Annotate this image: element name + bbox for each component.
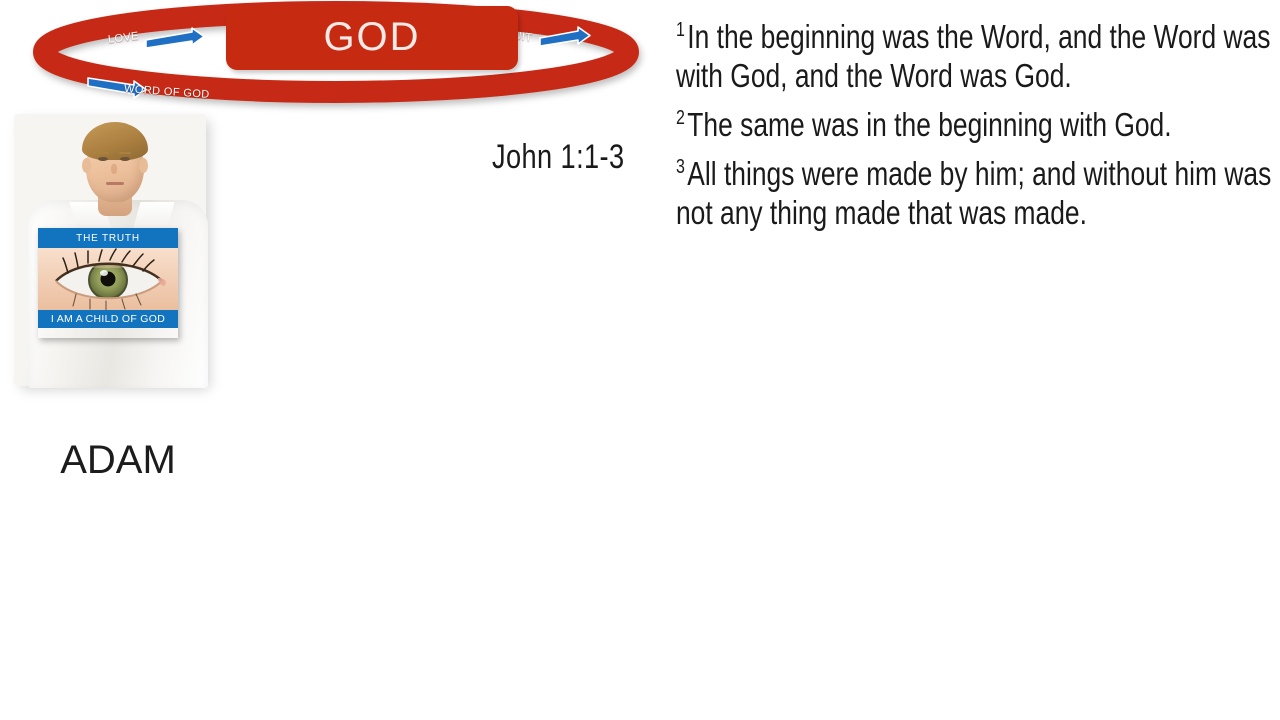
arrow-left-icon [146,28,204,48]
eye-graphic [38,248,178,310]
verse-text-1: In the beginning was the Word, and the W… [676,18,1270,94]
truth-card-footer-label: I AM A CHILD OF GOD [51,313,165,325]
person-hair [82,122,148,160]
verse-number-2: 2 [676,107,685,129]
scripture-body: 1In the beginning was the Word, and the … [676,18,1276,243]
truth-card: THE TRUTH [38,228,178,338]
verse-number-1: 1 [676,19,685,41]
person-photo: THE TRUTH [6,112,220,392]
person-ear-left [82,158,91,173]
god-box-label: GOD [323,17,420,57]
god-ring-diagram: LOVE WORD OF GOD FRUIT GOD [28,0,658,118]
eye-photo [38,248,178,310]
slide-canvas: LOVE WORD OF GOD FRUIT GOD [0,0,1280,720]
person-eye-right [120,157,130,161]
god-box: GOD [226,6,518,70]
scripture-reference: John 1:1-3 [492,138,625,177]
person-eyebrow-left [97,152,109,154]
person-nose [111,164,117,174]
person-eye-left [98,157,108,161]
verse-text-2: The same was in the beginning with God. [687,106,1171,143]
person-mouth [106,182,124,185]
truth-card-header: THE TRUTH [38,228,178,248]
verse-text-3: All things were made by him; and without… [676,155,1271,231]
person-name-label: ADAM [42,440,194,480]
truth-card-footer: I AM A CHILD OF GOD [38,310,178,328]
verse-3: 3All things were made by him; and withou… [676,155,1276,233]
arrow-left-icon-2 [540,27,590,46]
truth-card-header-label: THE TRUTH [76,233,140,244]
person-eyebrow-right [119,152,131,154]
verse-number-3: 3 [676,156,685,178]
verse-1: 1In the beginning was the Word, and the … [676,18,1276,96]
person-ear-right [139,158,148,173]
verse-2: 2The same was in the beginning with God. [676,106,1276,145]
